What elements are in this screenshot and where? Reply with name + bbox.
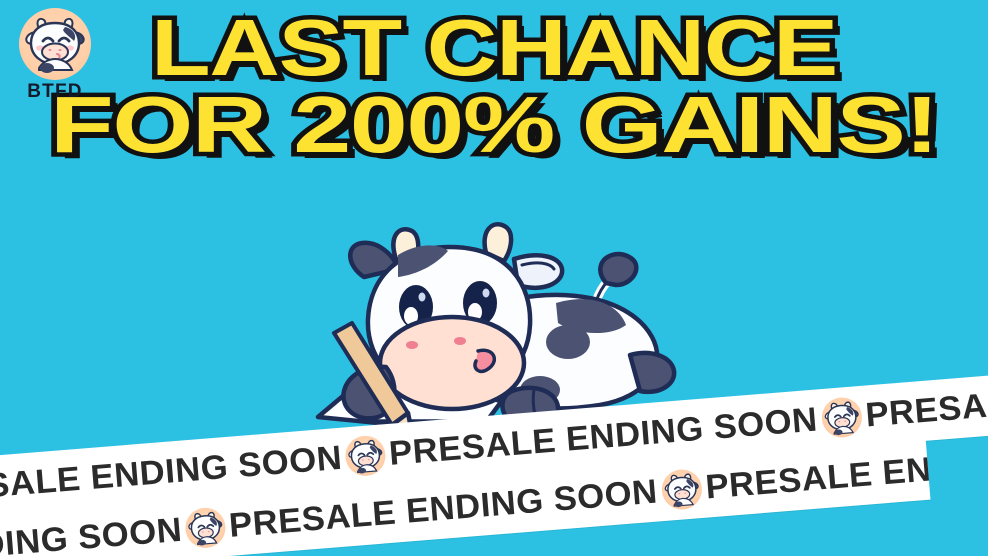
headline-line-1: LAST CHANCE: [0, 10, 988, 85]
page-title: LAST CHANCE FOR 200% GAINS!: [0, 10, 988, 162]
cow-face-icon: [344, 434, 387, 477]
marquee-item: PRESALE ENDING SOON: [0, 510, 184, 556]
promo-banner-canvas: BTFD LAST CHANCE FOR 200% GAINS!: [0, 0, 988, 556]
cow-face-icon: [820, 396, 863, 439]
brand-logo[interactable]: BTFD: [8, 8, 102, 101]
cow-face-icon: [184, 506, 227, 549]
cow-face-icon: [660, 468, 703, 511]
cow-face-icon: [19, 8, 91, 80]
brand-ticker: BTFD: [8, 82, 102, 101]
headline-line-2: FOR 200% GAINS!: [0, 87, 988, 162]
marquee-item: PRESALE ENDING SOON: [864, 368, 988, 435]
